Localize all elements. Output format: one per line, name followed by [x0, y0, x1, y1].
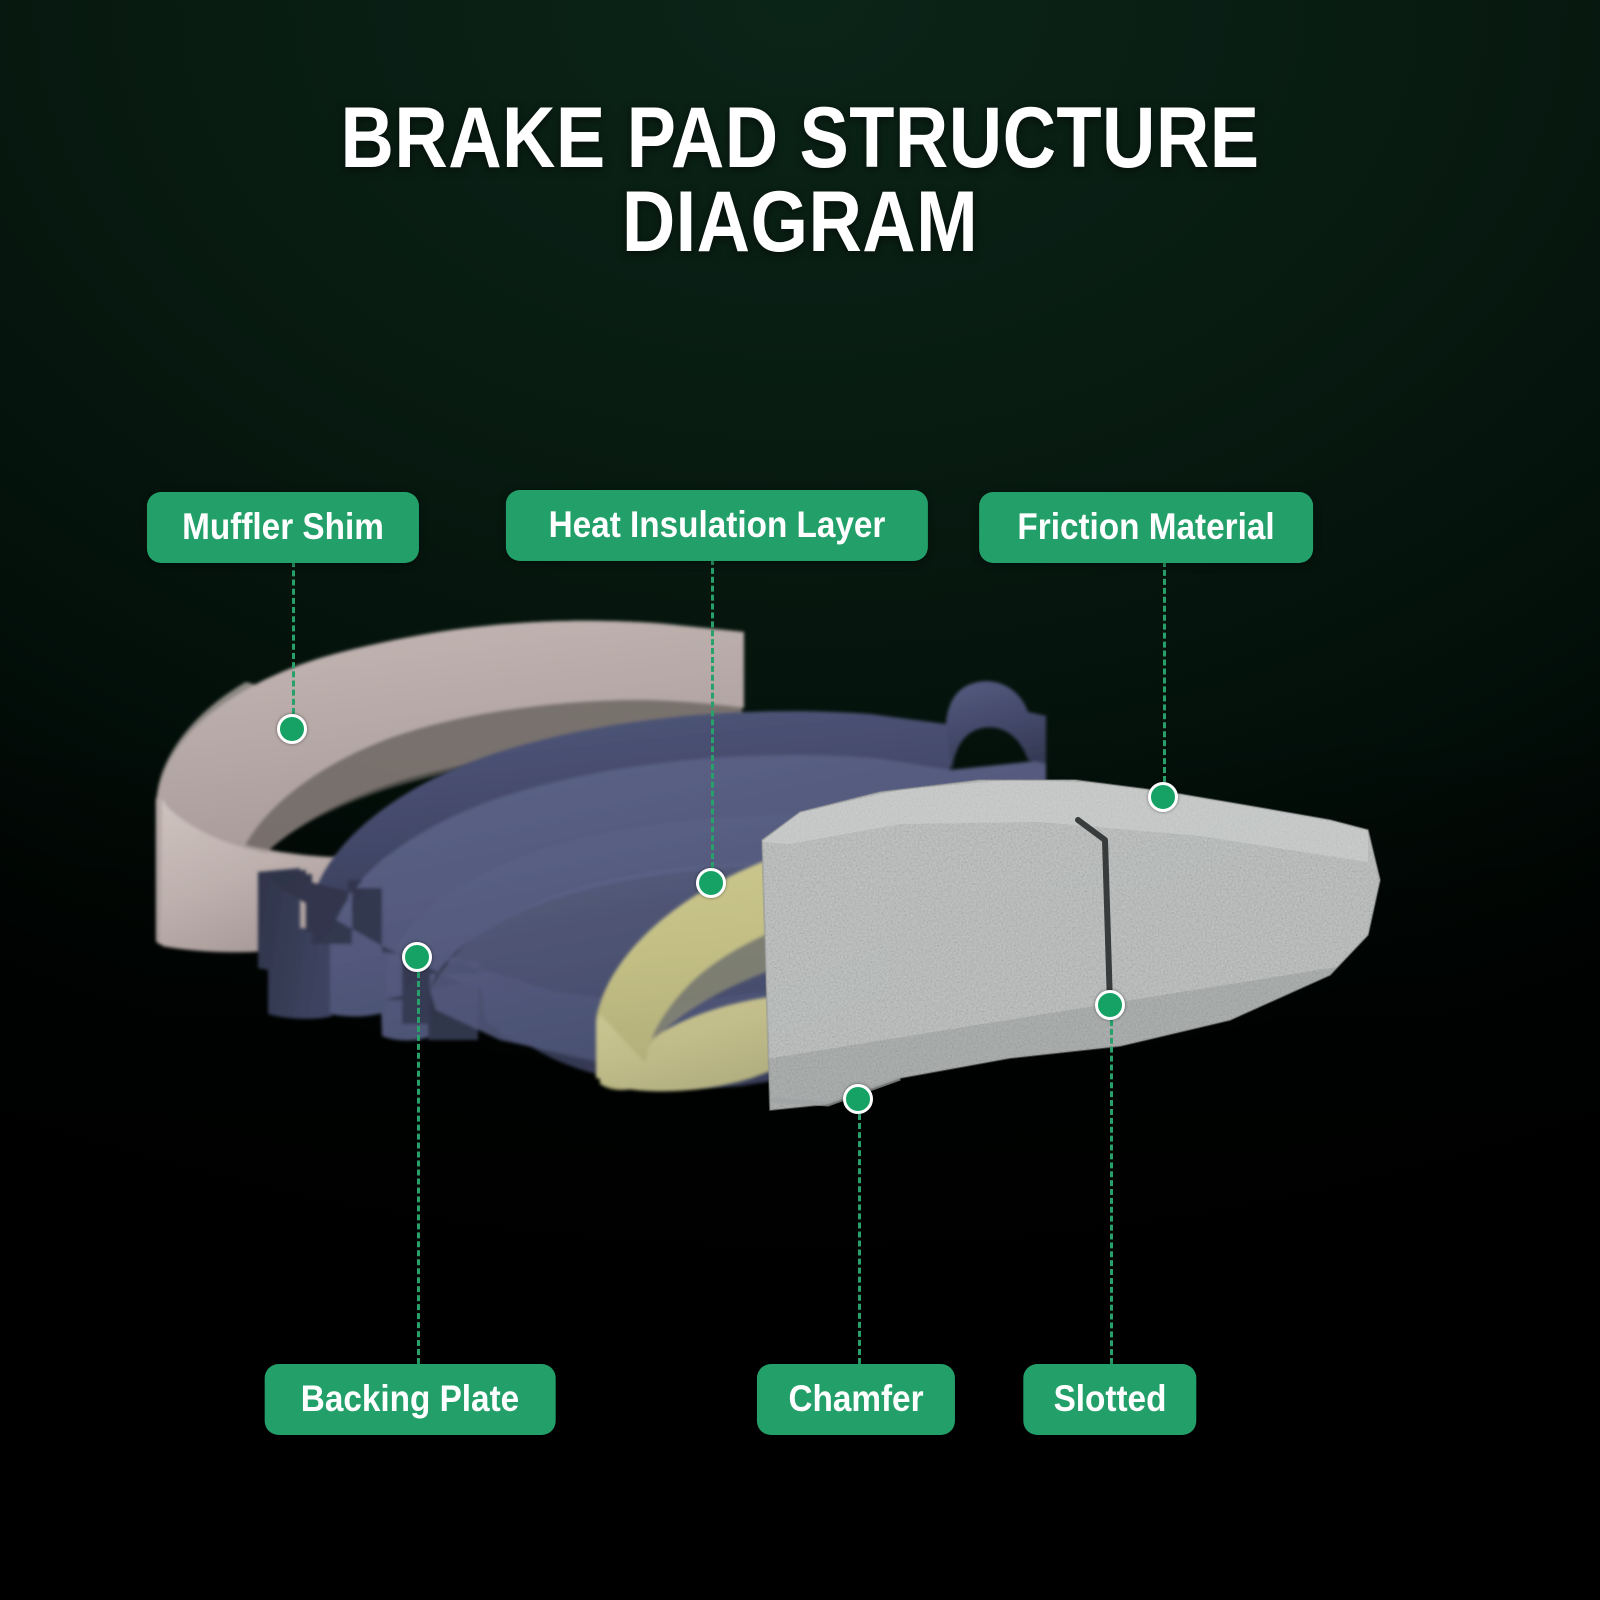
label-slotted[interactable]: Slotted: [1023, 1364, 1196, 1435]
title-line-2: DIAGRAM: [112, 180, 1488, 264]
title-line-1: BRAKE PAD STRUCTURE: [112, 96, 1488, 180]
marker-dot-friction-material[interactable]: [1148, 782, 1178, 812]
marker-dot-backing-plate[interactable]: [402, 942, 432, 972]
label-text-chamfer: Chamfer: [788, 1380, 923, 1417]
label-text-backing-plate: Backing Plate: [301, 1380, 519, 1417]
label-heat-insulation-layer[interactable]: Heat Insulation Layer: [506, 490, 928, 561]
label-text-heat-insulation-layer: Heat Insulation Layer: [549, 506, 886, 543]
page-title: BRAKE PAD STRUCTURE DIAGRAM: [112, 96, 1488, 265]
label-text-muffler-shim: Muffler Shim: [182, 508, 384, 545]
marker-dot-chamfer[interactable]: [843, 1084, 873, 1114]
friction-material-layer: [740, 760, 1420, 1140]
marker-dot-heat-insulation-layer[interactable]: [696, 868, 726, 898]
label-backing-plate[interactable]: Backing Plate: [265, 1364, 556, 1435]
label-text-slotted: Slotted: [1054, 1380, 1167, 1417]
diagram-canvas: BRAKE PAD STRUCTURE DIAGRAM: [0, 0, 1600, 1600]
label-text-friction-material: Friction Material: [1017, 508, 1274, 545]
marker-dot-muffler-shim[interactable]: [277, 714, 307, 744]
label-friction-material[interactable]: Friction Material: [979, 492, 1313, 563]
marker-dot-slotted[interactable]: [1095, 990, 1125, 1020]
label-chamfer[interactable]: Chamfer: [757, 1364, 955, 1435]
label-muffler-shim[interactable]: Muffler Shim: [147, 492, 419, 563]
